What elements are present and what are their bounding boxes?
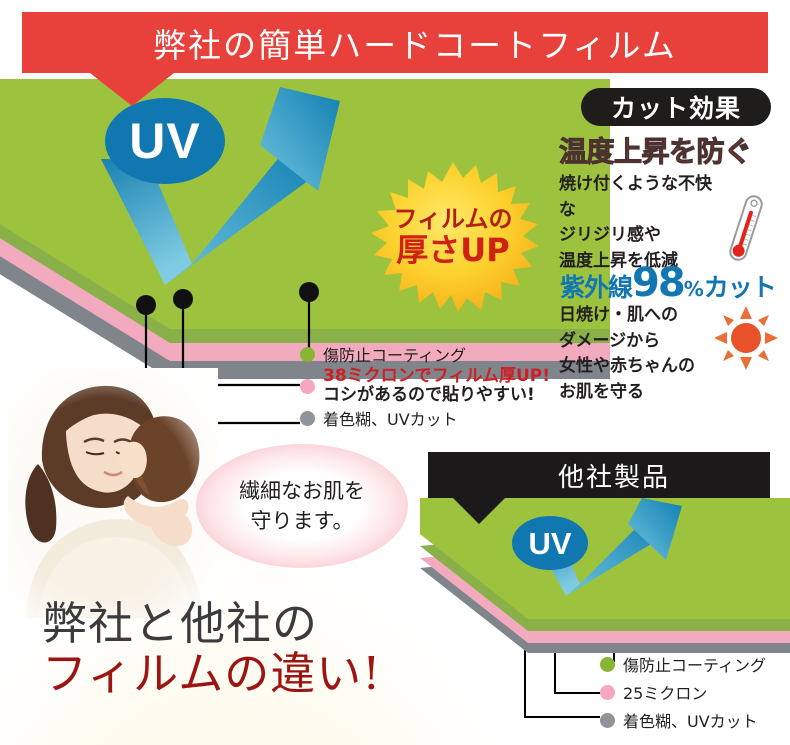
legend-label-coating: 傷防止コーティング	[323, 342, 466, 366]
page-title: 弊社と他社の フィルムの違い!	[42, 600, 422, 698]
other-product-banner-title: 他社製品	[428, 452, 770, 498]
legend-dot-adhesive-other	[600, 713, 615, 728]
sun-icon	[714, 306, 778, 370]
uv-badge-other: UV	[512, 516, 588, 570]
heat-heading: 温度上昇を防ぐ	[559, 130, 790, 170]
main-legend: 傷防止コーティング 38ミクロンでフィルム厚UP! コシがあるので貼りやすい! …	[300, 342, 570, 431]
bubble-text: 繊細なお肌を 守ります。	[196, 444, 408, 568]
our-product-banner-title: 弊社の簡単ハードコートフィルム	[22, 12, 768, 73]
our-product-banner: 弊社の簡単ハードコートフィルム	[22, 12, 768, 73]
bubble-line1: 繊細なお肌を	[239, 476, 365, 506]
avatar	[8, 368, 218, 618]
legend-label-thickness-black: コシがあるので貼りやすい!	[323, 386, 550, 405]
legend-label-adhesive-other: 着色糊、UVカット	[623, 708, 758, 732]
legend-item: 着色糊、UVカット	[300, 406, 570, 430]
infographic-root: UV フィルムの 厚さUP 弊社の簡単ハードコートフィルム	[0, 0, 790, 745]
legend-item: 傷防止コーティング	[600, 652, 790, 676]
legend-item: 着色糊、UVカット	[600, 708, 790, 732]
thermometer-icon	[723, 190, 769, 266]
uv-cut-word-before: 紫外線	[560, 268, 632, 304]
legend-item: 25ミクロン	[600, 680, 790, 704]
uv-cut-word-after: カット	[704, 268, 776, 304]
other-product-banner-pointer	[453, 498, 505, 524]
headline-line1: 弊社と他社の	[42, 600, 422, 648]
legend-label-coating-other: 傷防止コーティング	[623, 652, 766, 676]
legend-item: 傷防止コーティング	[300, 342, 570, 366]
skin-protect-bubble: 繊細なお肌を 守ります。	[196, 444, 408, 568]
starburst-line1: フィルムの	[393, 207, 512, 232]
other-product-banner: 他社製品	[428, 452, 770, 498]
starburst-line2: 厚さUP	[396, 234, 509, 268]
heat-body-text: 焼け付くような不快な ジリジリ感や 温度上昇を低減	[559, 172, 719, 274]
thickness-up-starburst: フィルムの 厚さUP	[355, 162, 551, 312]
uv-cut-number: 98	[632, 265, 684, 301]
uv-badge-main: UV	[105, 98, 225, 184]
headline-line2: フィルムの違い!	[42, 650, 422, 698]
uv-body-text: 日焼け・肌への ダメージから 女性や赤ちゃんの お肌を守る	[559, 303, 729, 405]
uv-cut-percent: %	[684, 277, 704, 301]
legend-dot-coating-other	[600, 657, 615, 672]
photo-fade	[8, 368, 218, 618]
our-product-banner-pointer	[90, 73, 174, 106]
bubble-line2: 守ります。	[251, 506, 354, 536]
legend-item: 38ミクロンでフィルム厚UP! コシがあるので貼りやすい!	[300, 367, 570, 405]
legend-dot-adhesive	[300, 411, 315, 426]
starburst-text: フィルムの 厚さUP	[355, 162, 551, 312]
uv-cut-heading: 紫外線 98 % カット	[560, 265, 790, 304]
cut-effect-badge: カット効果	[581, 88, 771, 126]
uv-badge-main-label: UV	[129, 116, 200, 166]
cut-effect-badge-label: カット効果	[611, 89, 741, 125]
uv-badge-other-label: UV	[528, 528, 571, 559]
legend-label-thickness-other: 25ミクロン	[623, 680, 707, 704]
legend-dot-coating	[300, 347, 315, 362]
legend-label-thickness-red: 38ミクロンでフィルム厚UP!	[323, 367, 550, 386]
legend-label-adhesive: 着色糊、UVカット	[323, 406, 458, 430]
other-legend: 傷防止コーティング 25ミクロン 着色糊、UVカット	[600, 652, 790, 736]
legend-dot-thickness	[300, 379, 315, 394]
legend-dot-thickness-other	[600, 685, 615, 700]
